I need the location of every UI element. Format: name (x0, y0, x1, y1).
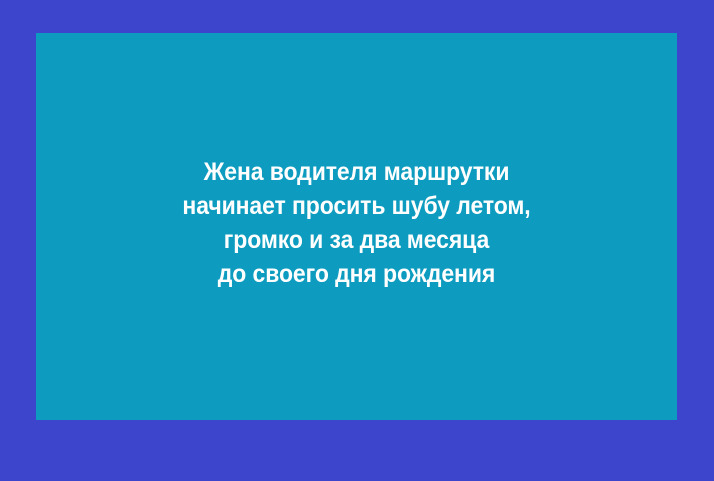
poster-canvas: Жена водителя маршрутки начинает просить… (0, 0, 714, 481)
quote-card: Жена водителя маршрутки начинает просить… (36, 33, 677, 420)
quote-line-2: начинает просить шубу летом, (78, 189, 635, 223)
quote-line-1: Жена водителя маршрутки (78, 155, 635, 189)
quote-line-4: до своего дня рождения (78, 257, 635, 291)
quote-line-3: громко и за два месяца (78, 223, 635, 257)
quote-text-block: Жена водителя маршрутки начинает просить… (36, 155, 677, 291)
